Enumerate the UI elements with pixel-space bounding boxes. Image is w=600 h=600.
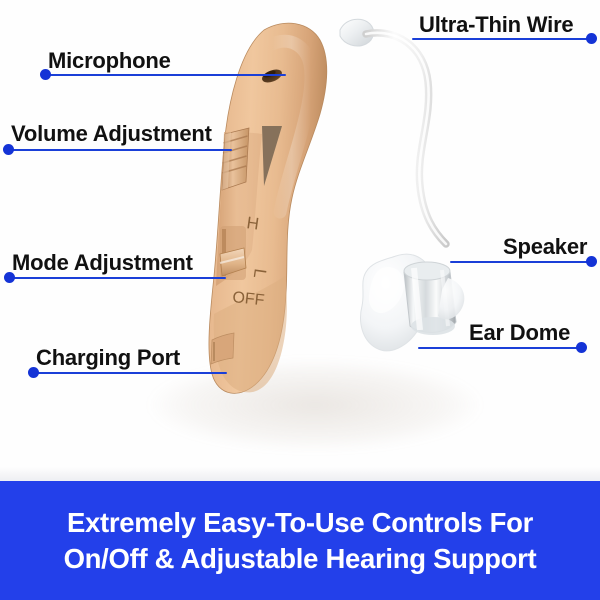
- leader-line-ear-dome: [418, 347, 582, 349]
- leader-line-mode-adjustment: [11, 277, 226, 279]
- product-feature-graphic: H L OFF: [0, 0, 600, 600]
- mode-slider-icon: [220, 226, 246, 280]
- leader-line-speaker: [450, 261, 592, 263]
- leader-dot-speaker: [586, 256, 597, 267]
- leader-dot-ultra-thin-wire: [586, 33, 597, 44]
- callout-label-microphone: Microphone: [48, 48, 171, 74]
- leader-line-microphone: [46, 74, 286, 76]
- callout-label-mode-adjustment: Mode Adjustment: [12, 250, 193, 276]
- product-photo: H L OFF: [0, 0, 600, 472]
- mode-marking-off: OFF: [232, 289, 266, 309]
- callout-label-charging-port: Charging Port: [36, 345, 180, 371]
- promo-banner-line-1: Extremely Easy-To-Use Controls For: [67, 505, 533, 540]
- banner-top-edge: [0, 466, 600, 482]
- leader-dot-mode-adjustment: [4, 272, 15, 283]
- callout-label-ultra-thin-wire: Ultra-Thin Wire: [419, 12, 573, 38]
- callout-label-ear-dome: Ear Dome: [469, 320, 570, 346]
- hearing-aid-device: H L OFF: [196, 8, 376, 428]
- mode-marking-high: H: [245, 213, 260, 234]
- leader-dot-microphone: [40, 69, 51, 80]
- promo-banner-line-2: On/Off & Adjustable Hearing Support: [64, 541, 537, 576]
- leader-dot-ear-dome: [576, 342, 587, 353]
- leader-line-volume-adjustment: [10, 149, 232, 151]
- leader-dot-volume-adjustment: [3, 144, 14, 155]
- leader-dot-charging-port: [28, 367, 39, 378]
- leader-line-charging-port: [35, 372, 227, 374]
- promo-banner: Extremely Easy-To-Use Controls For On/Of…: [0, 481, 600, 600]
- callout-label-volume-adjustment: Volume Adjustment: [11, 121, 212, 147]
- volume-wheel-icon: [222, 128, 249, 190]
- callout-label-speaker: Speaker: [503, 234, 587, 260]
- leader-line-ultra-thin-wire: [412, 38, 592, 40]
